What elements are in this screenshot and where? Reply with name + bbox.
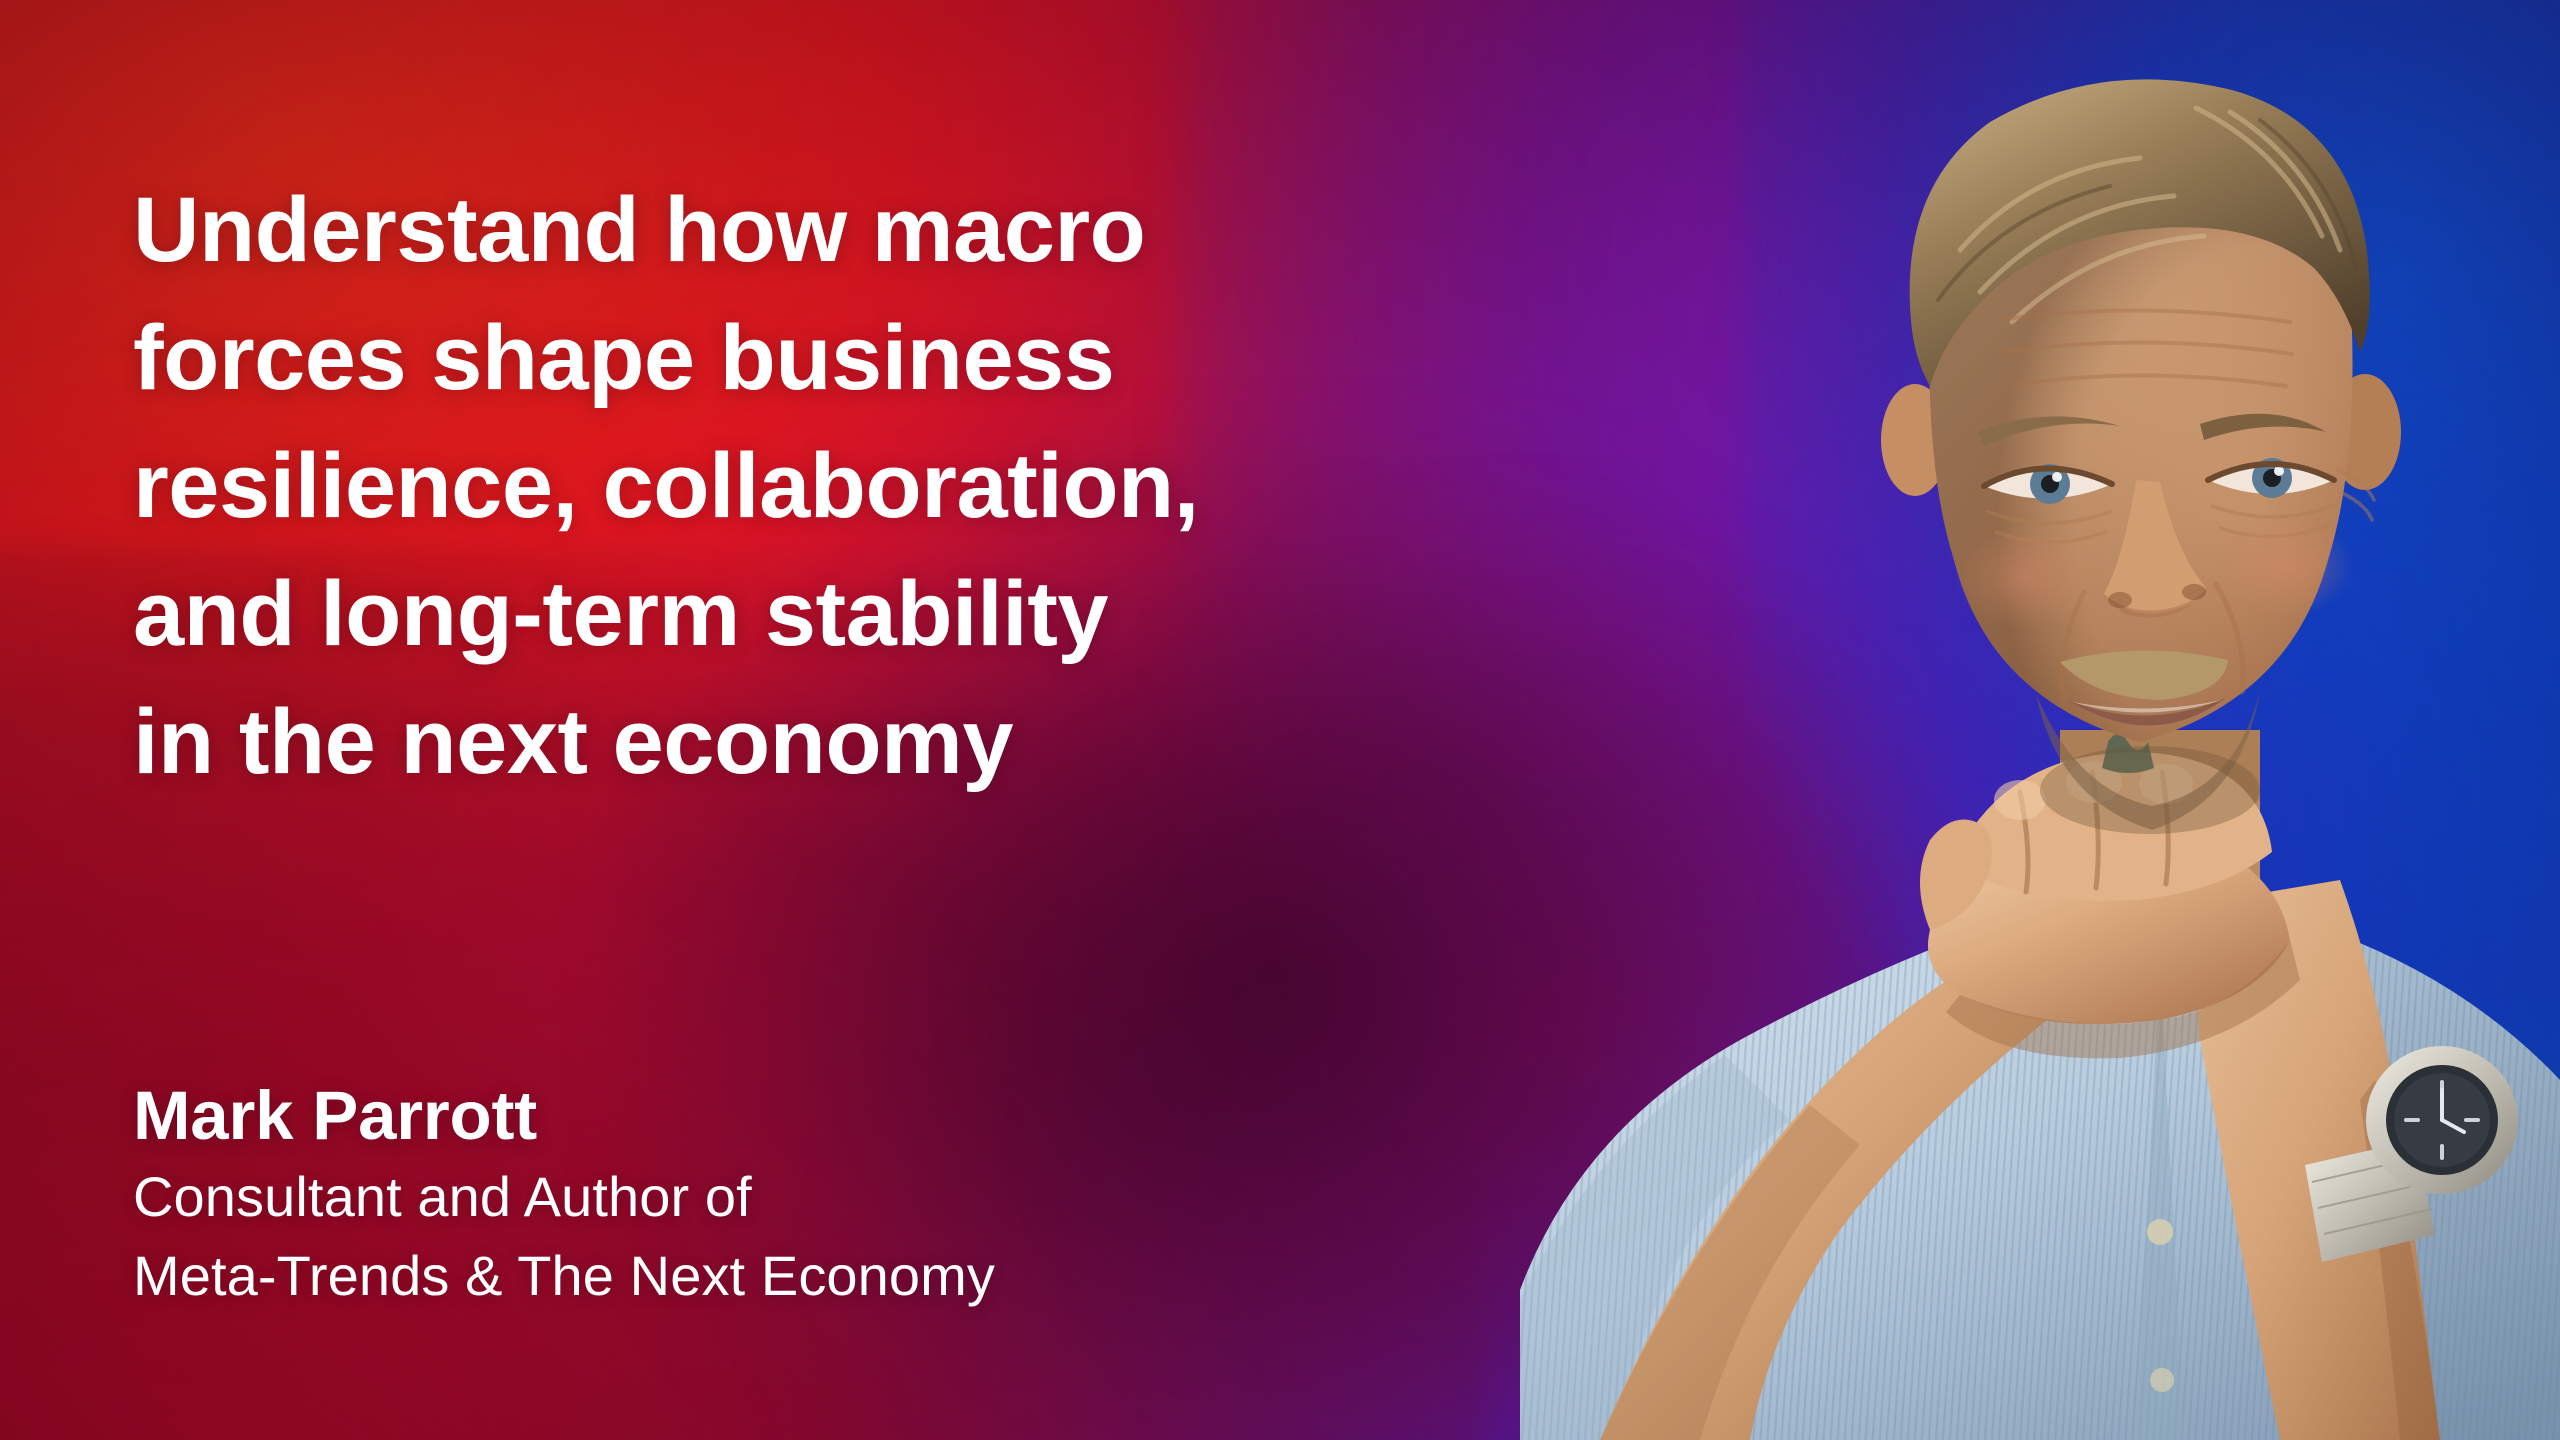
speaker-name: Mark Parrott	[133, 1075, 1433, 1157]
speaker-role-line-1: Consultant and Author of	[133, 1157, 1433, 1236]
headline-line-2: forces shape business	[133, 294, 1533, 422]
headline-line-5: in the next economy	[133, 678, 1533, 806]
headline: Understand how macro forces shape busine…	[133, 166, 1533, 806]
speaker-role-line-2: Meta-Trends & The Next Economy	[133, 1236, 1433, 1315]
promo-slide: Understand how macro forces shape busine…	[0, 0, 2560, 1440]
portrait-photo-mark-parrott	[1460, 0, 2560, 1440]
headline-line-4: and long-term stability	[133, 550, 1533, 678]
head	[1881, 79, 2401, 834]
headline-line-3: resilience, collaboration,	[133, 422, 1533, 550]
headline-line-1: Understand how macro	[133, 166, 1533, 294]
speaker-credit: Mark Parrott Consultant and Author of Me…	[133, 1075, 1433, 1315]
